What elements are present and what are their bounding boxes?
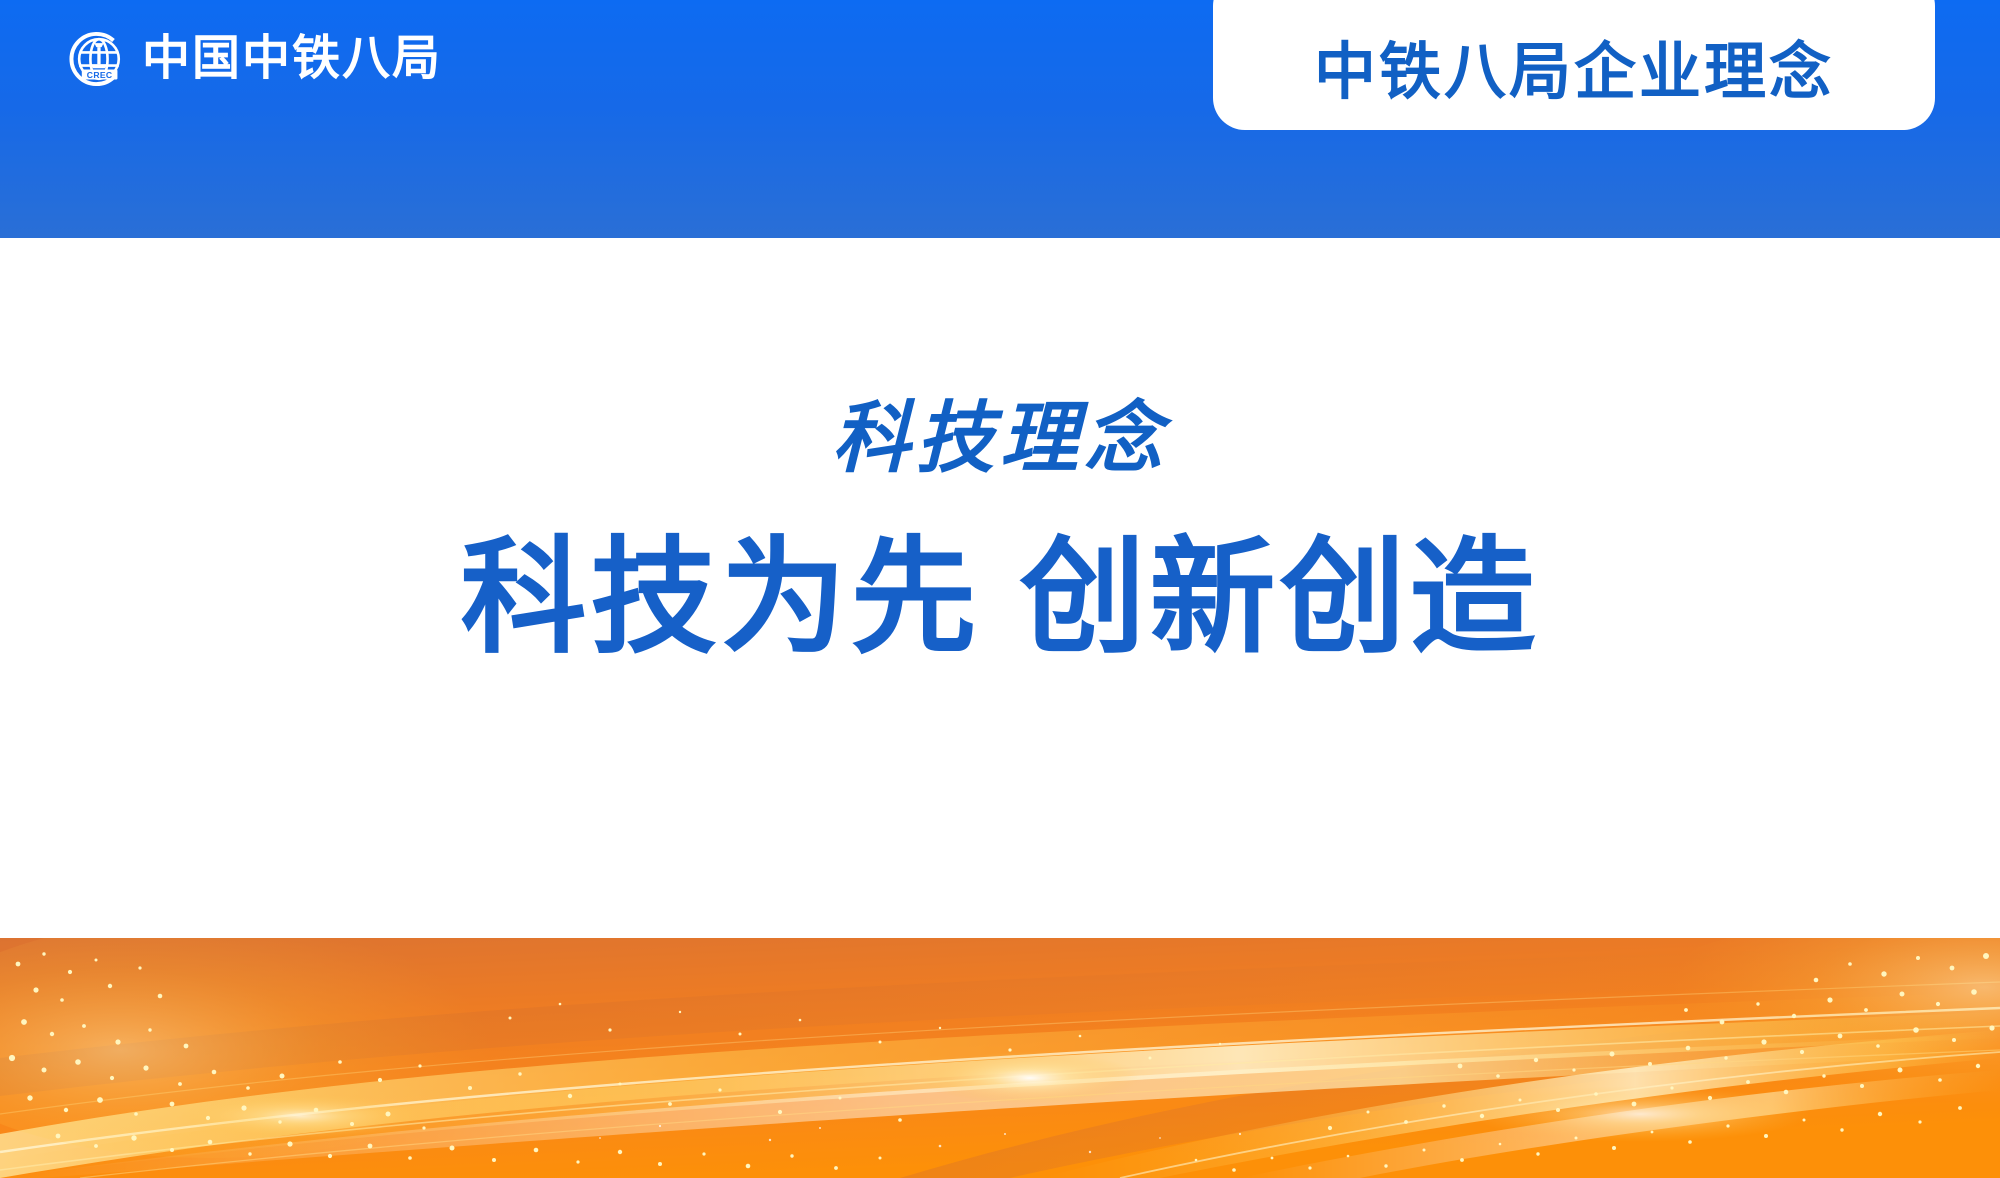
brand-lockup: CREC 中国中铁八局 bbox=[62, 26, 442, 92]
orange-light-streak-banner bbox=[0, 938, 2000, 1178]
footer-decoration bbox=[0, 938, 2000, 1178]
content-area: 科技理念 科技为先 创新创造 bbox=[0, 238, 2000, 938]
brand-name: 中国中铁八局 bbox=[142, 35, 442, 83]
concept-headline: 科技为先 创新创造 bbox=[0, 532, 2000, 664]
concept-block: 科技理念 科技为先 创新创造 bbox=[0, 398, 2000, 664]
concept-kicker: 科技理念 bbox=[0, 398, 2000, 480]
svg-text:CREC: CREC bbox=[87, 70, 113, 80]
header-band: CREC 中国中铁八局 中铁八局企业理念 bbox=[0, 0, 2000, 238]
corner-badge-label: 中铁八局企业理念 bbox=[1314, 42, 1834, 104]
corner-badge: 中铁八局企业理念 bbox=[1213, 0, 1935, 130]
crec-globe-logo-icon: CREC bbox=[62, 26, 128, 92]
slide-root: CREC 中国中铁八局 中铁八局企业理念 科技理念 科技为先 创新创造 bbox=[0, 0, 2000, 1178]
